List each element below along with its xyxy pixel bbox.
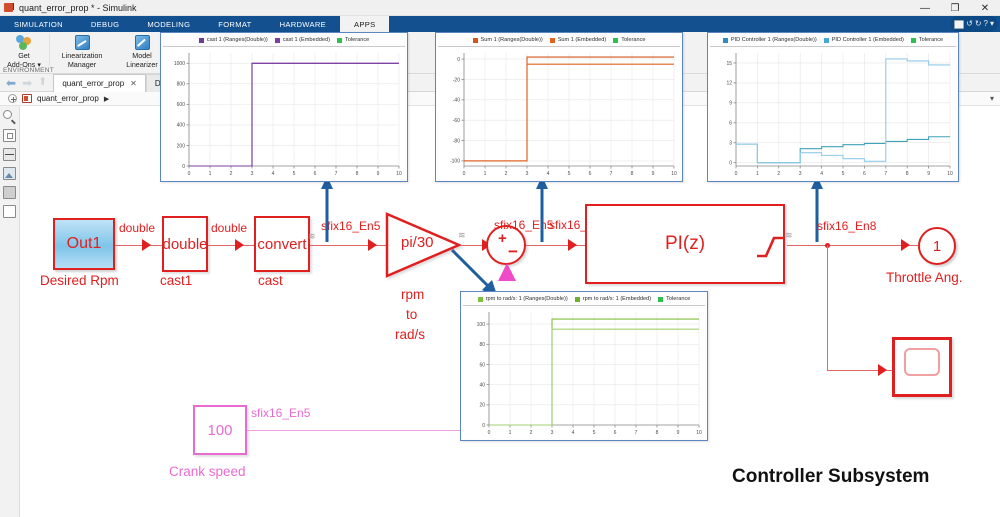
svg-text:200: 200 (177, 143, 186, 149)
signal-line[interactable] (827, 245, 828, 370)
svg-text:3: 3 (551, 430, 554, 436)
maximize-button[interactable]: ❐ (940, 0, 970, 16)
svg-text:5: 5 (593, 430, 596, 436)
signal-label-crank: sfix16_En5 (251, 406, 310, 420)
legend-entry: Sum 1 (Embedded) (550, 37, 607, 43)
scope-plot-rpm-to-rads: 020406080100012345678910 (463, 305, 705, 439)
signal-icon[interactable] (3, 148, 16, 161)
legend-label: rpm to rad/s: 1 (Ranges(Double)) (486, 296, 568, 302)
svg-text:80: 80 (479, 342, 485, 348)
svg-text:0: 0 (188, 171, 191, 177)
svg-text:-60: -60 (453, 118, 460, 124)
block-out1[interactable]: Out1 (53, 218, 115, 270)
linearization-manager-icon (75, 34, 90, 51)
block-gain-caption-line3: rad/s (395, 327, 425, 342)
more-icon[interactable]: ▾ (990, 20, 994, 28)
svg-text:2: 2 (505, 171, 508, 177)
block-cast[interactable]: convert (254, 216, 310, 272)
scope-legend: cast 1 (Ranges(Double)) cast 1 (Embedded… (161, 33, 407, 46)
breadcrumb-label[interactable]: quant_error_prop (37, 94, 99, 103)
legend-label: cast 1 (Embedded) (283, 37, 330, 43)
scope-panel-pid[interactable]: PID Controller 1 (Ranges(Double)) PID Co… (707, 32, 959, 182)
redo-icon[interactable]: ↻ (975, 20, 982, 28)
svg-text:7: 7 (884, 171, 887, 177)
breadcrumb-separator-icon: ▶ (104, 95, 109, 103)
legend-entry: Tolerance (911, 37, 943, 43)
svg-text:400: 400 (177, 123, 186, 129)
ribbon-group-linearization: Linearization Manager Model Linearizer (52, 32, 172, 74)
svg-text:15: 15 (726, 61, 732, 67)
signal-line[interactable] (115, 245, 163, 246)
linearization-manager-button[interactable]: Linearization Manager (52, 32, 112, 69)
svg-text:5: 5 (293, 171, 296, 177)
svg-text:4: 4 (572, 430, 575, 436)
title-bar: quant_error_prop * - Simulink (0, 0, 1000, 16)
model-tab-label: quant_error_prop (62, 79, 124, 88)
block-cast1-caption: cast1 (160, 273, 192, 288)
ribbon-tab-strip: SIMULATION DEBUG MODELING FORMAT HARDWAR… (0, 16, 1000, 32)
svg-text:8: 8 (356, 171, 359, 177)
model-icon (22, 94, 32, 103)
svg-text:4: 4 (272, 171, 275, 177)
signal-label-double-1: double (119, 221, 155, 235)
svg-text:6: 6 (614, 430, 617, 436)
tab-modeling[interactable]: MODELING (133, 16, 204, 32)
signal-label-sfix16-en8: sfix16_En8 (817, 219, 876, 233)
signal-probe-icon: ≋ (458, 230, 466, 241)
save-icon[interactable] (954, 20, 964, 29)
svg-text:4: 4 (820, 171, 823, 177)
feedback-arrow (498, 263, 516, 288)
signal-arrow (568, 239, 577, 251)
svg-text:9: 9 (652, 171, 655, 177)
legend-label: rpm to rad/s: 1 (Embedded) (583, 296, 651, 302)
legend-swatch (824, 38, 829, 43)
block-cast1[interactable]: double (162, 216, 208, 272)
svg-text:0: 0 (463, 171, 466, 177)
signal-line[interactable] (526, 245, 588, 246)
expand-icon[interactable] (8, 94, 17, 103)
legend-label: cast 1 (Ranges(Double)) (207, 37, 268, 43)
block-crank-speed-caption: Crank speed (169, 464, 246, 479)
navigation-arrows: ⬅ ➡ ⬆ (0, 77, 53, 89)
svg-text:20: 20 (479, 403, 485, 409)
svg-text:3: 3 (729, 141, 732, 147)
legend-label: PID Controller 1 (Embedded) (832, 37, 904, 43)
model-linearizer-icon (135, 34, 150, 51)
block-gain-text: pi/30 (401, 234, 434, 251)
svg-text:6: 6 (314, 171, 317, 177)
legend-label: Tolerance (666, 296, 690, 302)
camera-icon[interactable] (3, 186, 16, 199)
logging-arrow-cast1 (320, 176, 334, 242)
tab-apps[interactable]: APPS (340, 16, 389, 32)
legend-entry: Tolerance (337, 37, 369, 43)
svg-text:2: 2 (530, 430, 533, 436)
svg-text:2: 2 (777, 171, 780, 177)
scope-plot-pid: 03691215012345678910 (710, 46, 956, 180)
get-add-ons-button[interactable]: Get Add-Ons ▾ (0, 32, 48, 69)
legend-label: PID Controller 1 (Ranges(Double)) (731, 37, 817, 43)
legend-swatch (337, 38, 342, 43)
scope-panel-rpm-to-rads[interactable]: rpm to rad/s: 1 (Ranges(Double)) rpm to … (460, 291, 708, 441)
svg-text:6: 6 (589, 171, 592, 177)
block-sum-plus-label: + (498, 230, 507, 247)
svg-text:0: 0 (729, 160, 732, 166)
svg-text:0: 0 (488, 430, 491, 436)
scope-panel-cast1[interactable]: cast 1 (Ranges(Double)) cast 1 (Embedded… (160, 32, 408, 182)
back-arrow-icon[interactable]: ⬅ (6, 77, 16, 89)
svg-text:0: 0 (457, 57, 460, 63)
svg-text:60: 60 (479, 362, 485, 368)
quick-access-toolbar: ↺ ↻ ? ▾ (950, 16, 998, 32)
svg-text:1: 1 (484, 171, 487, 177)
legend-swatch (613, 38, 618, 43)
close-button[interactable]: ✕ (970, 0, 1000, 16)
rectangle-icon[interactable] (3, 205, 16, 218)
scope-panel-sum1[interactable]: Sum 1 (Ranges(Double)) Sum 1 (Embedded) … (435, 32, 683, 182)
svg-text:5: 5 (842, 171, 845, 177)
svg-text:100: 100 (477, 322, 486, 328)
block-scope[interactable] (892, 337, 952, 397)
legend-swatch (478, 297, 483, 302)
svg-text:1: 1 (509, 430, 512, 436)
legend-label: Tolerance (621, 37, 645, 43)
legend-label: Sum 1 (Ranges(Double)) (481, 37, 543, 43)
tab-debug[interactable]: DEBUG (77, 16, 134, 32)
svg-text:6: 6 (863, 171, 866, 177)
svg-text:8: 8 (906, 171, 909, 177)
scope-legend: rpm to rad/s: 1 (Ranges(Double)) rpm to … (461, 292, 707, 305)
signal-probe-icon: ≋ (785, 230, 793, 241)
svg-text:0: 0 (735, 171, 738, 177)
fit-to-view-icon[interactable] (3, 129, 16, 142)
block-outport-text: 1 (933, 238, 941, 255)
svg-text:8: 8 (631, 171, 634, 177)
svg-text:10: 10 (396, 171, 402, 177)
legend-label: Tolerance (919, 37, 943, 43)
legend-entry: rpm to rad/s: 1 (Embedded) (575, 296, 651, 302)
svg-text:3: 3 (799, 171, 802, 177)
svg-text:3: 3 (526, 171, 529, 177)
legend-entry: cast 1 (Ranges(Double)) (199, 37, 268, 43)
signal-arrow (901, 239, 910, 251)
chevron-down-icon[interactable]: ▾ (990, 94, 994, 103)
svg-text:8: 8 (656, 430, 659, 436)
get-add-ons-label-line1: Get (18, 52, 30, 60)
svg-text:-100: -100 (450, 159, 460, 165)
tab-hardware[interactable]: HARDWARE (266, 16, 340, 32)
help-icon[interactable]: ? (984, 20, 988, 28)
svg-text:-80: -80 (453, 138, 460, 144)
block-cast-caption: cast (258, 273, 283, 288)
legend-entry: Tolerance (658, 296, 690, 302)
block-cast1-text: double (162, 236, 207, 253)
forward-arrow-icon[interactable]: ➡ (22, 77, 32, 89)
block-crank-speed[interactable]: 100 (193, 405, 247, 455)
svg-text:12: 12 (726, 81, 732, 87)
signal-probe-icon: ≋ (308, 231, 316, 242)
svg-text:0: 0 (182, 164, 185, 170)
block-pid-text: PI(z) (665, 233, 705, 255)
svg-text:9: 9 (927, 171, 930, 177)
svg-text:600: 600 (177, 102, 186, 108)
legend-swatch (723, 38, 728, 43)
signal-arrow (878, 364, 887, 376)
svg-text:10: 10 (696, 430, 702, 436)
subsystem-title: Controller Subsystem (732, 466, 929, 488)
logging-arrow-sum (535, 176, 549, 242)
svg-text:0: 0 (482, 423, 485, 429)
legend-entry: Tolerance (613, 37, 645, 43)
window-controls: — ❐ ✕ (910, 0, 1000, 16)
svg-text:-40: -40 (453, 98, 460, 104)
svg-text:9: 9 (377, 171, 380, 177)
block-sum-minus-label: − (508, 242, 518, 262)
tab-format[interactable]: FORMAT (204, 16, 265, 32)
window-title: quant_error_prop * - Simulink (19, 3, 137, 13)
tab-simulation[interactable]: SIMULATION (0, 16, 77, 32)
svg-text:3: 3 (251, 171, 254, 177)
svg-text:40: 40 (479, 382, 485, 388)
signal-line[interactable] (208, 245, 256, 246)
legend-swatch (911, 38, 916, 43)
svg-text:4: 4 (547, 171, 550, 177)
legend-swatch (275, 38, 280, 43)
block-gain-caption-line1: rpm (401, 287, 424, 302)
feedback-line[interactable] (247, 430, 463, 431)
svg-text:7: 7 (610, 171, 613, 177)
legend-entry: cast 1 (Embedded) (275, 37, 330, 43)
block-gain-caption-line2: to (406, 307, 417, 322)
minimize-button[interactable]: — (910, 0, 940, 16)
svg-text:9: 9 (677, 430, 680, 436)
zoom-icon[interactable] (3, 110, 16, 123)
svg-text:1000: 1000 (174, 61, 185, 67)
simulink-app-icon (4, 2, 15, 13)
block-out1-text: Out1 (67, 235, 102, 253)
legend-entry: rpm to rad/s: 1 (Ranges(Double)) (478, 296, 568, 302)
svg-text:2: 2 (230, 171, 233, 177)
linearization-manager-label-line1: Linearization (62, 52, 103, 60)
svg-text:800: 800 (177, 82, 186, 88)
left-toolbar (0, 106, 20, 517)
group-name-environment: ENVIRONMENT (3, 67, 54, 74)
legend-label: Tolerance (345, 37, 369, 43)
scope-plot-cast1: 02004006008001000012345678910 (163, 46, 405, 180)
svg-text:7: 7 (635, 430, 638, 436)
block-outport-caption: Throttle Ang. (886, 270, 963, 285)
up-arrow-icon[interactable]: ⬆ (38, 77, 47, 88)
legend-swatch (550, 38, 555, 43)
legend-entry: Sum 1 (Ranges(Double)) (473, 37, 543, 43)
svg-text:5: 5 (568, 171, 571, 177)
undo-icon[interactable]: ↺ (966, 20, 973, 28)
legend-entry: PID Controller 1 (Ranges(Double)) (723, 37, 817, 43)
svg-text:10: 10 (671, 171, 677, 177)
legend-entry: PID Controller 1 (Embedded) (824, 37, 904, 43)
saturation-icon (755, 232, 785, 265)
ribbon-separator-1 (49, 34, 50, 66)
block-cast-text: convert (257, 236, 306, 253)
svg-text:7: 7 (335, 171, 338, 177)
svg-text:1: 1 (209, 171, 212, 177)
model-linearizer-label-line2: Linearizer (126, 61, 158, 69)
signal-arrow (142, 239, 151, 251)
model-tab-quant-error-prop[interactable]: quant_error_prop ✕ (53, 74, 146, 92)
signal-arrow (235, 239, 244, 251)
block-crank-speed-text: 100 (207, 422, 232, 439)
svg-text:6: 6 (729, 121, 732, 127)
legend-label: Sum 1 (Embedded) (558, 37, 607, 43)
image-icon[interactable] (3, 167, 16, 180)
add-ons-icon (16, 34, 33, 51)
svg-text:-20: -20 (453, 77, 460, 83)
legend-swatch (575, 297, 580, 302)
block-out1-caption: Desired Rpm (40, 273, 119, 288)
svg-text:10: 10 (947, 171, 953, 177)
ribbon-group-environment: Get Add-Ons ▾ ENVIRONMENT (0, 32, 48, 74)
svg-text:1: 1 (756, 171, 759, 177)
signal-arrow (368, 239, 377, 251)
signal-label-double-2: double (211, 221, 247, 235)
legend-swatch (473, 38, 478, 43)
legend-swatch (658, 297, 663, 302)
svg-text:9: 9 (729, 101, 732, 107)
linearization-manager-label-line2: Manager (68, 61, 96, 69)
scope-plot-sum1: 0-20-40-60-80-100012345678910 (438, 46, 680, 180)
scope-legend: PID Controller 1 (Ranges(Double)) PID Co… (708, 33, 958, 46)
legend-swatch (199, 38, 204, 43)
model-linearizer-label-line1: Model (132, 52, 152, 60)
block-outport-throttle[interactable]: 1 (918, 227, 956, 265)
close-icon[interactable]: ✕ (130, 79, 137, 88)
scope-legend: Sum 1 (Ranges(Double)) Sum 1 (Embedded) … (436, 33, 682, 46)
